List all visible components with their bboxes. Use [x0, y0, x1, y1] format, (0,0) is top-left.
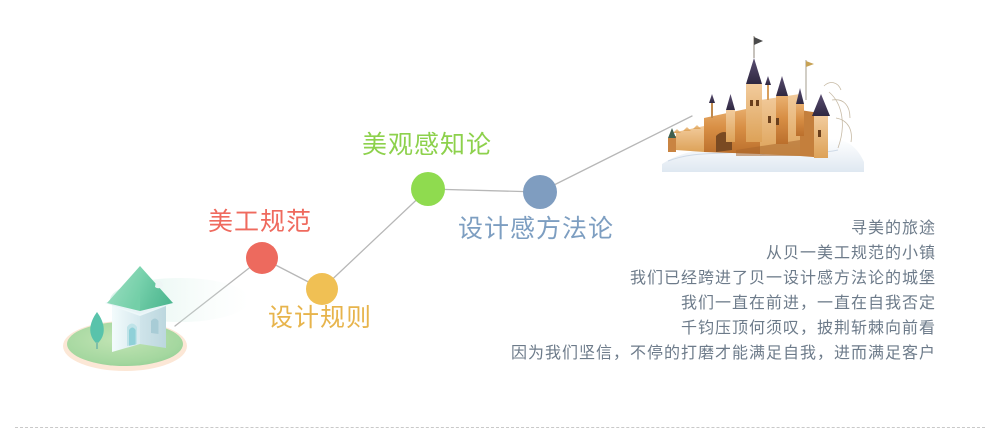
node-meigong-guifan[interactable] — [246, 242, 278, 274]
window-3 — [768, 116, 771, 123]
outer-turret — [668, 136, 676, 152]
window-5 — [818, 130, 821, 137]
spire-central — [746, 58, 762, 84]
node-meiguan-ganzhilun[interactable] — [411, 172, 445, 206]
node-shejigan-fangfalun[interactable] — [523, 175, 557, 209]
flag-right — [806, 61, 814, 67]
tower-central — [746, 84, 762, 142]
pinnacle-cap-1 — [709, 94, 715, 103]
window-4 — [776, 118, 779, 125]
poem-line-4: 我们一直在前进，一直在自我否定 — [511, 291, 936, 316]
design-journey-banner: 美工规范 设计规则 美观感知论 设计感方法论 寻美的旅途 从贝一美工规范的小镇 … — [0, 0, 1000, 431]
outer-wall-block — [676, 126, 704, 152]
poem-line-3: 我们已经跨进了贝一设计感方法论的城堡 — [511, 266, 936, 291]
spire-right — [812, 94, 830, 116]
window-2 — [756, 100, 759, 106]
spire-third — [726, 94, 735, 110]
tower-third — [726, 110, 735, 142]
tree-trunk — [96, 342, 98, 349]
castle-outer-wall — [668, 125, 704, 152]
castle-illustration — [662, 36, 864, 172]
outer-merlon-2 — [683, 127, 691, 131]
window-1 — [750, 100, 753, 106]
pinnacle-cap-2 — [765, 76, 771, 85]
castle-main-walls — [704, 94, 826, 158]
poem-block: 寻美的旅途 从贝一美工规范的小镇 我们已经跨进了贝一设计感方法论的城堡 我们一直… — [511, 216, 936, 366]
poem-line-6: 因为我们坚信，不停的打磨才能满足自我，进而满足客户 — [511, 341, 936, 366]
milestone-label-meiguan-ganzhilun[interactable]: 美观感知论 — [362, 133, 492, 158]
spire-second — [776, 76, 788, 96]
bottom-divider — [15, 427, 985, 428]
milestone-label-meigong-guifan[interactable]: 美工规范 — [208, 210, 312, 235]
poem-line-5: 千钧压顶何须叹，披荆斩棘向前看 — [511, 316, 936, 341]
node-sheji-guize[interactable] — [306, 273, 338, 305]
milestone-label-sheji-guize[interactable]: 设计规则 — [268, 306, 372, 331]
poem-line-1: 寻美的旅途 — [511, 216, 936, 241]
house-town-illustration — [63, 266, 250, 371]
flag-central — [754, 37, 763, 45]
house-window — [151, 319, 159, 335]
door-inner — [129, 328, 136, 346]
outer-merlon-1 — [673, 129, 681, 133]
poem-line-2: 从贝一美工规范的小镇 — [511, 241, 936, 266]
tower-fourth — [796, 104, 804, 136]
